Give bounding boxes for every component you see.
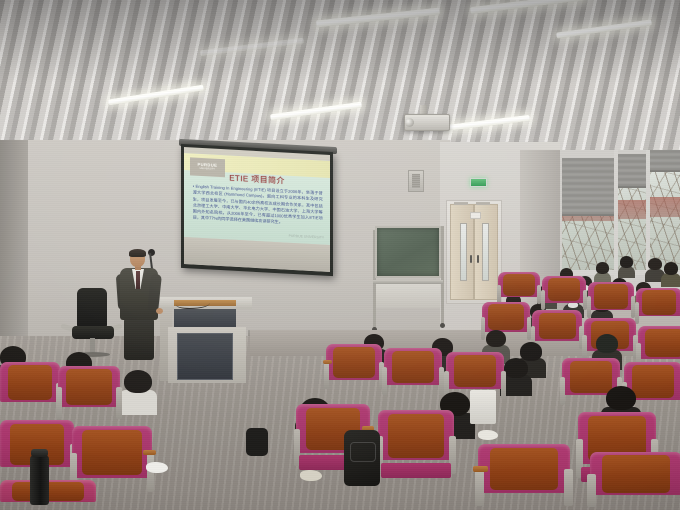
auditorium-seat[interactable] xyxy=(542,276,586,312)
slide-body-text: • English Training In Engineering (ETIE)… xyxy=(193,184,323,228)
seat-back-wood xyxy=(66,369,112,405)
person-head xyxy=(596,334,618,353)
presenter-legs xyxy=(124,318,154,360)
person-head xyxy=(606,386,636,410)
seat-side-panel xyxy=(56,387,62,418)
auditorium-seat[interactable] xyxy=(588,282,634,320)
presenter-hand xyxy=(156,308,163,314)
thermos-cap xyxy=(31,449,48,457)
lectern-cabinet-door[interactable] xyxy=(177,333,233,380)
person-head xyxy=(664,262,678,275)
seat-side-panel xyxy=(382,367,387,395)
thermos-bottle[interactable] xyxy=(30,455,49,505)
ceiling-light-fixture xyxy=(444,115,530,131)
seat-back-wood xyxy=(548,278,581,301)
person-head xyxy=(620,256,633,268)
door-closer xyxy=(476,202,490,205)
audience-person xyxy=(648,258,662,279)
seat-side-panel xyxy=(475,469,483,506)
auditorium-seat[interactable] xyxy=(498,272,540,306)
projector-lens xyxy=(405,118,414,127)
shoe xyxy=(478,430,498,440)
presentation-slide: PURDUE UNIVERSITY ETIE 项目简介 • English Tr… xyxy=(184,153,330,245)
window-blind xyxy=(650,150,680,172)
chalkboard-caster xyxy=(440,323,445,328)
ceiling-projector xyxy=(404,105,450,131)
person-head xyxy=(124,370,152,393)
seat-side-panel xyxy=(501,371,506,399)
shoe xyxy=(300,470,322,481)
chalkboard-surface xyxy=(375,226,441,278)
ceiling-light-fixture xyxy=(108,85,204,106)
ceiling-light-fixture xyxy=(200,38,304,57)
window-blind xyxy=(562,158,614,216)
door-closer xyxy=(454,202,468,205)
lectern xyxy=(160,297,252,387)
audience-person xyxy=(596,262,609,282)
seat-back-wood xyxy=(602,455,670,492)
seat-back-wood xyxy=(594,284,628,308)
person-head xyxy=(504,358,528,378)
seat-side-panel xyxy=(560,377,565,405)
wall-speaker xyxy=(408,170,424,192)
ceiling-light-fixture xyxy=(470,0,588,14)
lectern-control-panel[interactable] xyxy=(174,309,236,327)
seat-back-wood xyxy=(333,347,374,378)
seat-back-wood xyxy=(539,313,576,340)
presenter-tie xyxy=(136,271,140,289)
seat-armrest xyxy=(473,466,488,471)
exit-sign xyxy=(470,178,487,187)
auditorium-seat[interactable] xyxy=(384,348,442,398)
seat-cushion xyxy=(381,463,451,478)
slide-body-paragraph: English Training In Engineering (ETIE) 项… xyxy=(193,184,323,225)
seat-back-wood xyxy=(645,329,680,357)
auditorium-seat[interactable] xyxy=(590,452,680,510)
seat-back-wood xyxy=(82,430,141,475)
presenter-hair xyxy=(129,249,146,257)
seat-back-wood xyxy=(642,290,676,314)
seat-side-panel xyxy=(481,317,485,339)
seat-back-wood xyxy=(632,365,675,398)
seat-back-wood xyxy=(488,304,524,330)
auditorium-seat[interactable] xyxy=(636,288,680,326)
auditorium-seat[interactable] xyxy=(58,366,120,422)
seat-back-wood xyxy=(454,355,497,387)
chalkboard-leg xyxy=(441,226,444,326)
audience-person xyxy=(504,358,528,392)
seat-back-wood xyxy=(503,274,534,296)
seat-side-panel xyxy=(587,474,595,506)
auditorium-seat[interactable] xyxy=(378,410,454,478)
projection-screen: PURDUE UNIVERSITY ETIE 项目简介 • English Tr… xyxy=(181,144,333,276)
shoe xyxy=(146,462,168,473)
tote-bag[interactable] xyxy=(470,390,496,424)
chalkboard-lower-panel xyxy=(376,284,440,308)
seat-back-wood xyxy=(388,414,444,458)
door-vision-panel xyxy=(460,223,467,281)
seat-side-panel xyxy=(541,290,545,310)
seat-back-wood xyxy=(392,351,435,383)
slide-bullet-marker: • xyxy=(193,184,194,189)
chalkboard-unit xyxy=(371,226,445,334)
chair-backrest xyxy=(77,288,107,328)
seat-side-panel xyxy=(439,367,444,395)
bag[interactable] xyxy=(246,428,268,456)
window-mullion xyxy=(614,150,618,280)
seat-side-panel xyxy=(116,387,122,418)
auditorium-seat[interactable] xyxy=(478,444,570,510)
entry-doors[interactable] xyxy=(446,200,502,304)
person-torso xyxy=(119,390,157,415)
ceiling-light-fixture xyxy=(316,8,440,28)
lecture-hall-photo: PURDUE UNIVERSITY ETIE 项目简介 • English Tr… xyxy=(0,0,680,510)
door-vision-panel xyxy=(482,223,489,281)
seat-armrest xyxy=(323,360,332,364)
person-head xyxy=(596,262,609,274)
door-handle[interactable] xyxy=(470,255,472,263)
ceiling-light-fixture xyxy=(270,102,362,121)
slide-watermark: PURDUE UNIVERSITY xyxy=(289,234,325,240)
seat-side-panel xyxy=(324,362,329,389)
person-head xyxy=(486,330,506,347)
ceiling-light-fixture xyxy=(556,19,652,38)
slatted-ceiling xyxy=(0,0,680,152)
person-head xyxy=(648,258,662,270)
presenter xyxy=(112,250,170,360)
auditorium-seat[interactable] xyxy=(326,344,382,392)
seat-side-panel xyxy=(582,335,587,360)
door-handle[interactable] xyxy=(477,255,479,263)
audience-person xyxy=(664,262,678,284)
person-torso xyxy=(661,273,680,287)
screen-surface: PURDUE UNIVERSITY ETIE 项目简介 • English Tr… xyxy=(184,147,330,272)
door-notice-sign xyxy=(470,212,481,219)
seat-armrest xyxy=(143,450,156,456)
person-torso xyxy=(618,266,636,278)
seat-back-wood xyxy=(8,365,52,400)
auditorium-seat[interactable] xyxy=(0,362,60,416)
window-blind xyxy=(618,154,646,188)
audience-person xyxy=(620,256,633,276)
audience-person xyxy=(124,370,152,410)
seat-side-panel xyxy=(587,296,591,317)
backpack[interactable] xyxy=(344,430,380,486)
seat-side-panel xyxy=(564,469,572,506)
seat-back-wood xyxy=(490,448,558,490)
